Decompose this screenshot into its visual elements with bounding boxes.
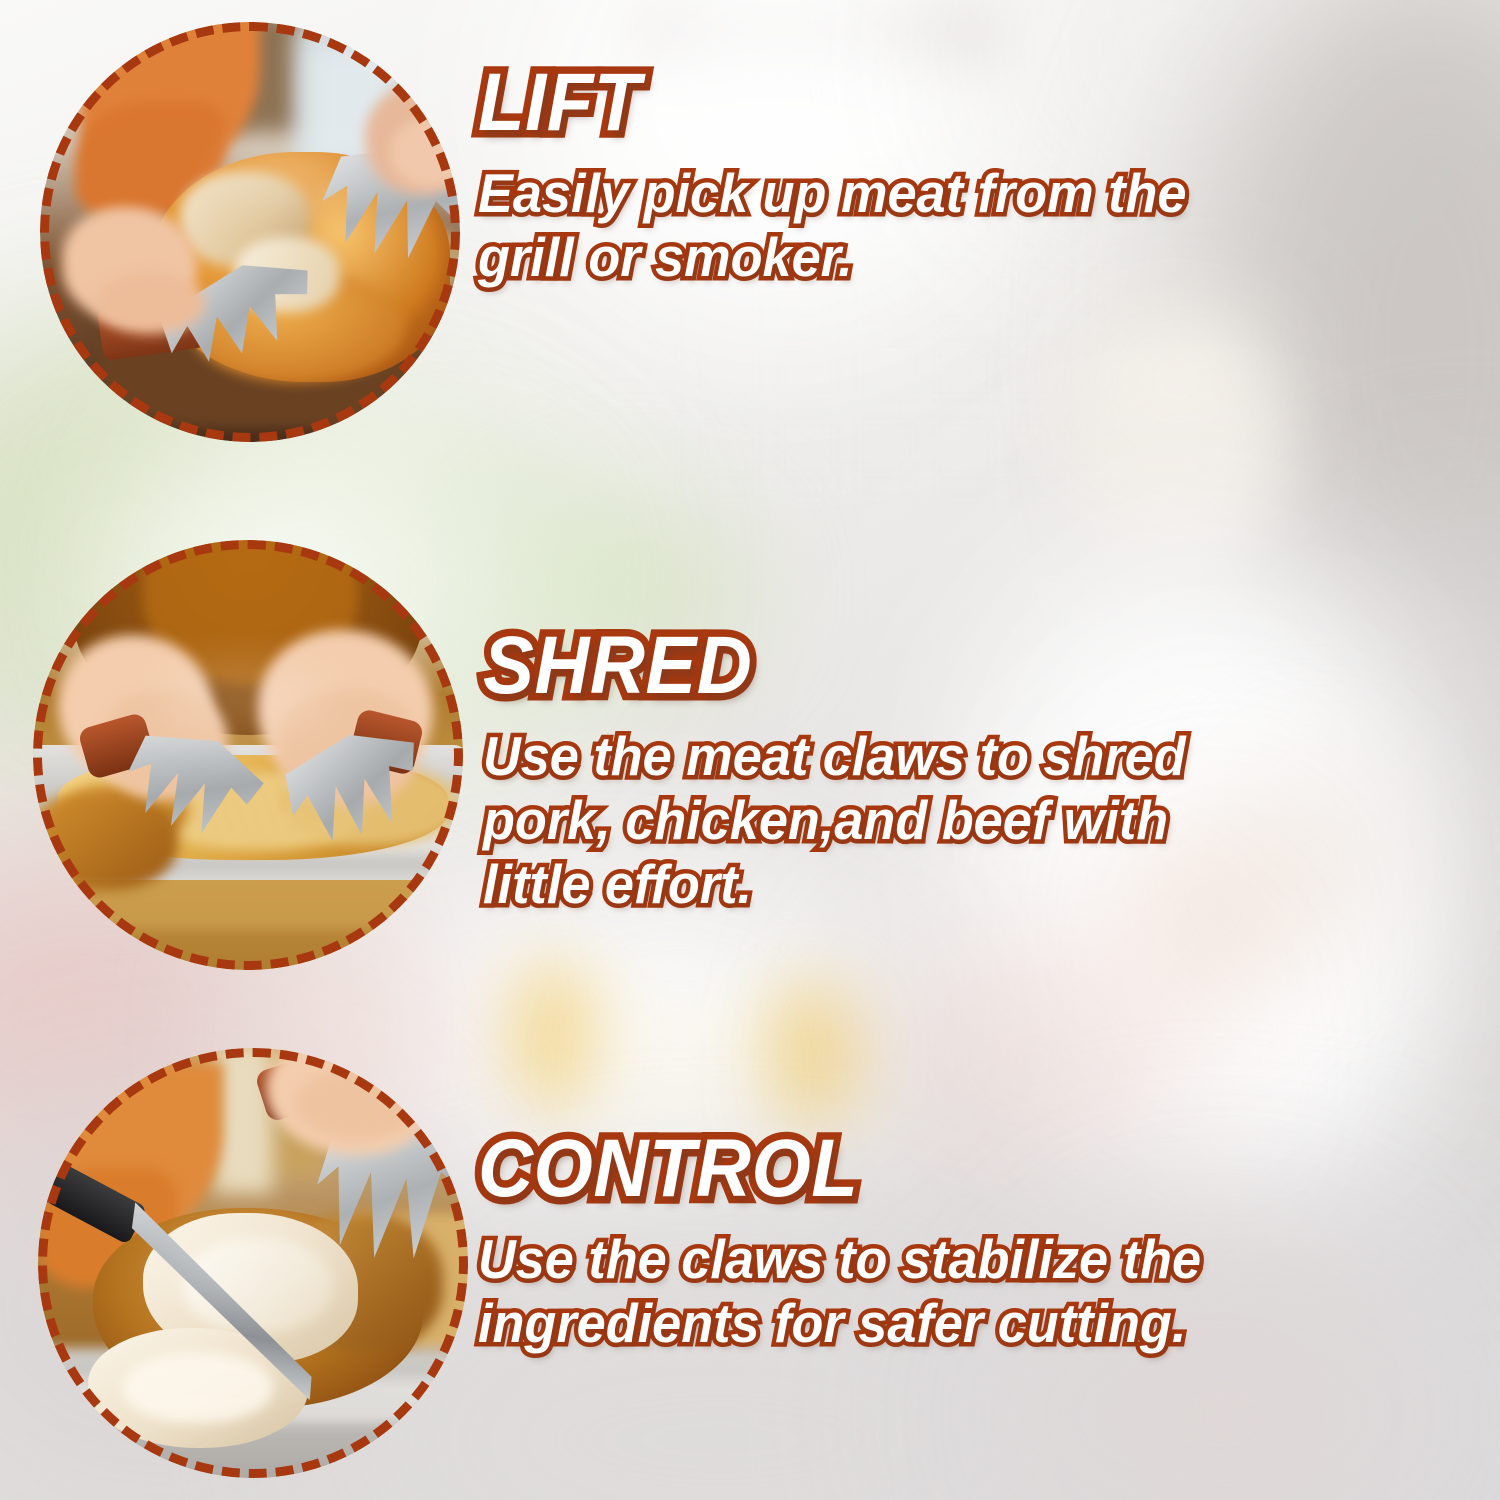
infographic-canvas: LIFT Easily pick up meat from the grill … [0, 0, 1500, 1500]
body-lift: Easily pick up meat from the grill or sm… [478, 162, 1186, 290]
photo-shred [33, 540, 463, 970]
heading-lift: LIFT [478, 62, 1172, 144]
section-control-text: CONTROL Use the claws to stabilize the i… [478, 1128, 1239, 1356]
body-control: Use the claws to stabilize the ingredien… [478, 1228, 1201, 1356]
heading-control: CONTROL [478, 1128, 1186, 1210]
photo-control [38, 1048, 468, 1478]
heading-shred: SHRED [483, 625, 1171, 707]
section-shred-text: SHRED Use the meat claws to shred pork, … [483, 625, 1223, 916]
photo-lift [40, 22, 460, 442]
body-shred: Use the meat claws to shred pork, chicke… [483, 725, 1186, 916]
section-lift-text: LIFT Easily pick up meat from the grill … [478, 62, 1224, 290]
